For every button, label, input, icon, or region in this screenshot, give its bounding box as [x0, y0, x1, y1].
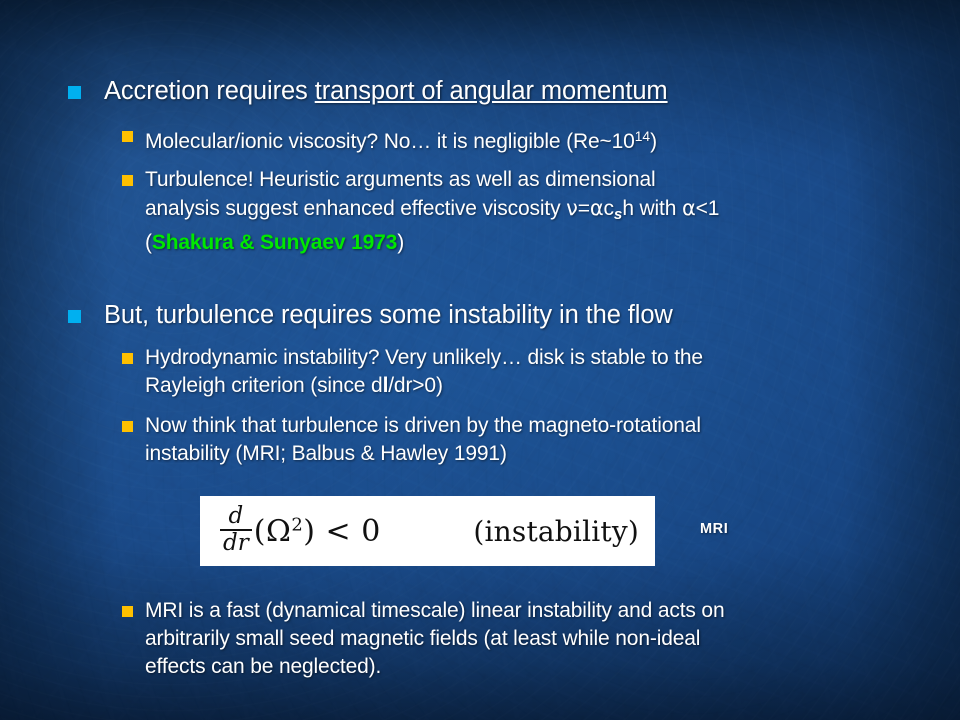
bullet-marker-level2-icon [122, 131, 133, 142]
reference-paren-close: ) [397, 231, 404, 254]
bullet-level2-molecular-viscosity: Molecular/ionic viscosity? No… it is neg… [0, 122, 960, 156]
omega-power: 2 [291, 514, 303, 535]
hydro-line2-tail: /dr>0) [388, 374, 443, 397]
bullet-level1-accretion-underlined: transport of angular momentum [315, 77, 668, 105]
bullet-marker-level2-icon [122, 606, 133, 617]
fraction-numerator: d [225, 505, 246, 529]
bullet-level1-instability: But, turbulence requires some instabilit… [0, 300, 960, 330]
hydro-line1: Hydrodynamic instability? Very unlikely…… [145, 346, 703, 369]
nu-symbol: ν [566, 196, 578, 220]
equation-image-instability-criterion: d dr (Ω2) < 0 (instability) [200, 496, 655, 566]
turbulence-line2-lead: analysis suggest enhanced effective visc… [145, 197, 566, 220]
omega-symbol: Ω [266, 514, 291, 549]
bullet-marker-level2-icon [122, 353, 133, 364]
reference-paren-open: ( [145, 231, 152, 254]
scale-height-h: h with [622, 197, 682, 220]
paren-close: ) [303, 514, 315, 549]
alpha-symbol-2: α [682, 196, 696, 220]
mri-fast-line1: MRI is a fast (dynamical timescale) line… [145, 599, 725, 622]
hydro-line2-lead: Rayleigh criterion (since d [145, 374, 383, 397]
paren-open: ( [254, 514, 266, 549]
presentation-slide: Accretion requires transport of angular … [0, 0, 960, 720]
mri-fast-line3: effects can be neglected). [145, 655, 381, 678]
reference-shakura-sunyaev: Shakura & Sunyaev 1973 [152, 231, 397, 254]
bullet-marker-level2-icon [122, 175, 133, 186]
bullet-level1-accretion-lead: Accretion requires [104, 77, 315, 105]
equals-symbol: = [578, 197, 590, 220]
bullet-level2-mri-driven: Now think that turbulence is driven by t… [0, 412, 960, 468]
equation-comparison: < 0 [315, 514, 380, 549]
sound-speed-c: c [604, 197, 614, 220]
bullet-group-angular-momentum: Accretion requires transport of angular … [0, 76, 960, 257]
derivative-fraction: d dr [220, 505, 252, 556]
fraction-denominator: dr [220, 531, 252, 555]
bullet-level1-instability-text: But, turbulence requires some instabilit… [104, 301, 673, 329]
equation-body: (Ω2) < 0 [254, 514, 381, 549]
bullet-group-mri-properties: MRI is a fast (dynamical timescale) line… [0, 597, 960, 681]
bullet-level2-mri-fast: MRI is a fast (dynamical timescale) line… [0, 597, 960, 681]
alpha-comparison: <1 [696, 197, 720, 220]
reynolds-exponent: 14 [635, 128, 650, 144]
equation-caption-mri: MRI [700, 521, 728, 537]
bullet-marker-level1-icon [68, 86, 81, 99]
bullet-group-instability: But, turbulence requires some instabilit… [0, 300, 960, 468]
mri-driven-line2: instability (MRI; Balbus & Hawley 1991) [145, 442, 507, 465]
bullet-level2-hydrodynamic-instability: Hydrodynamic instability? Very unlikely…… [0, 344, 960, 400]
alpha-symbol: α [590, 196, 604, 220]
turbulence-line1: Turbulence! Heuristic arguments as well … [145, 168, 656, 191]
mri-driven-line1: Now think that turbulence is driven by t… [145, 414, 701, 437]
bullet-marker-level2-icon [122, 421, 133, 432]
bullet-marker-level1-icon [68, 310, 81, 323]
mri-fast-line2: arbitrarily small seed magnetic fields (… [145, 627, 700, 650]
equation-annotation: (instability) [473, 515, 639, 548]
bullet-level2-turbulence-heuristic: Turbulence! Heuristic arguments as well … [0, 166, 960, 257]
molecular-viscosity-lead: Molecular/ionic viscosity? No… it is neg… [145, 130, 635, 153]
molecular-viscosity-tail: ) [650, 130, 657, 153]
bullet-level1-accretion: Accretion requires transport of angular … [0, 76, 960, 106]
